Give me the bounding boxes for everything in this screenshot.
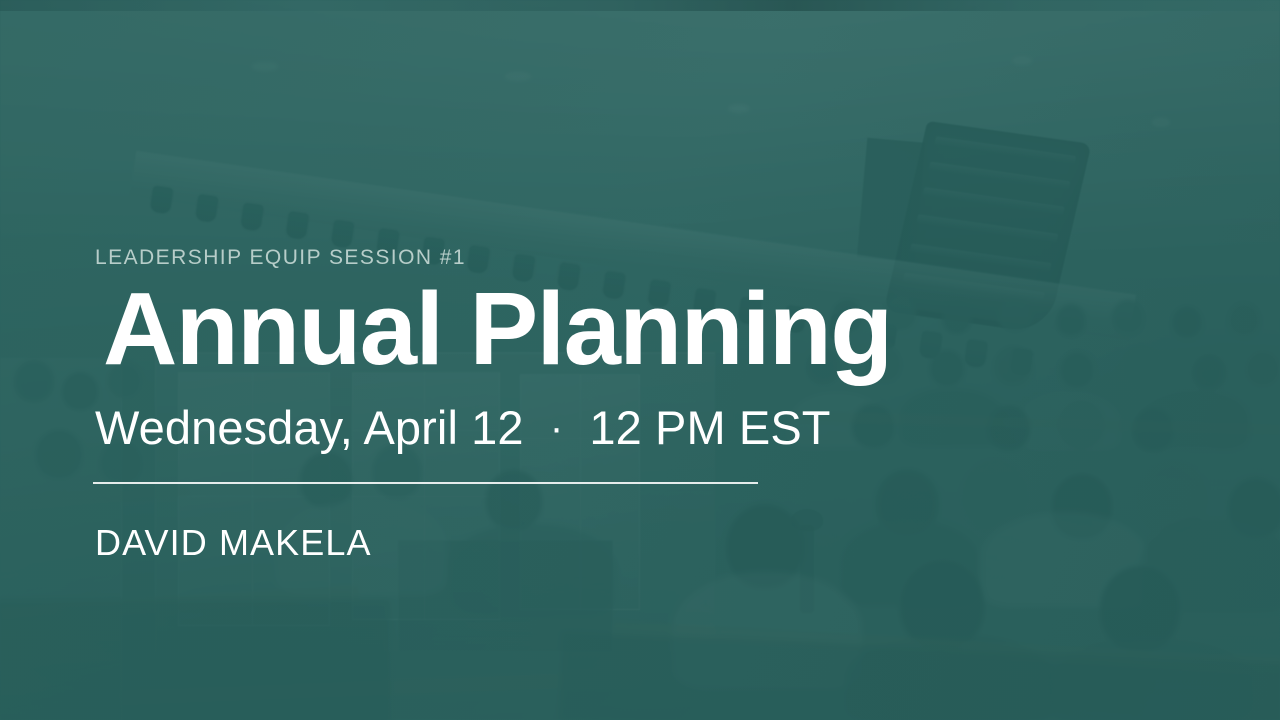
date-time-line: Wednesday, April 12 · 12 PM EST [95,400,831,455]
text-block: LEADERSHIP EQUIP SESSION #1 Annual Plann… [95,0,855,720]
session-eyebrow: LEADERSHIP EQUIP SESSION #1 [95,246,466,270]
date-text: Wednesday, April 12 [95,401,524,454]
page-title: Annual Planning [103,277,892,380]
speaker-name: DAVID MAKELA [95,522,372,564]
middot-separator-icon: · [537,406,576,451]
divider [93,482,758,484]
time-text: 12 PM EST [589,401,830,454]
title-slide: LEADERSHIP EQUIP SESSION #1 Annual Plann… [0,0,1280,720]
